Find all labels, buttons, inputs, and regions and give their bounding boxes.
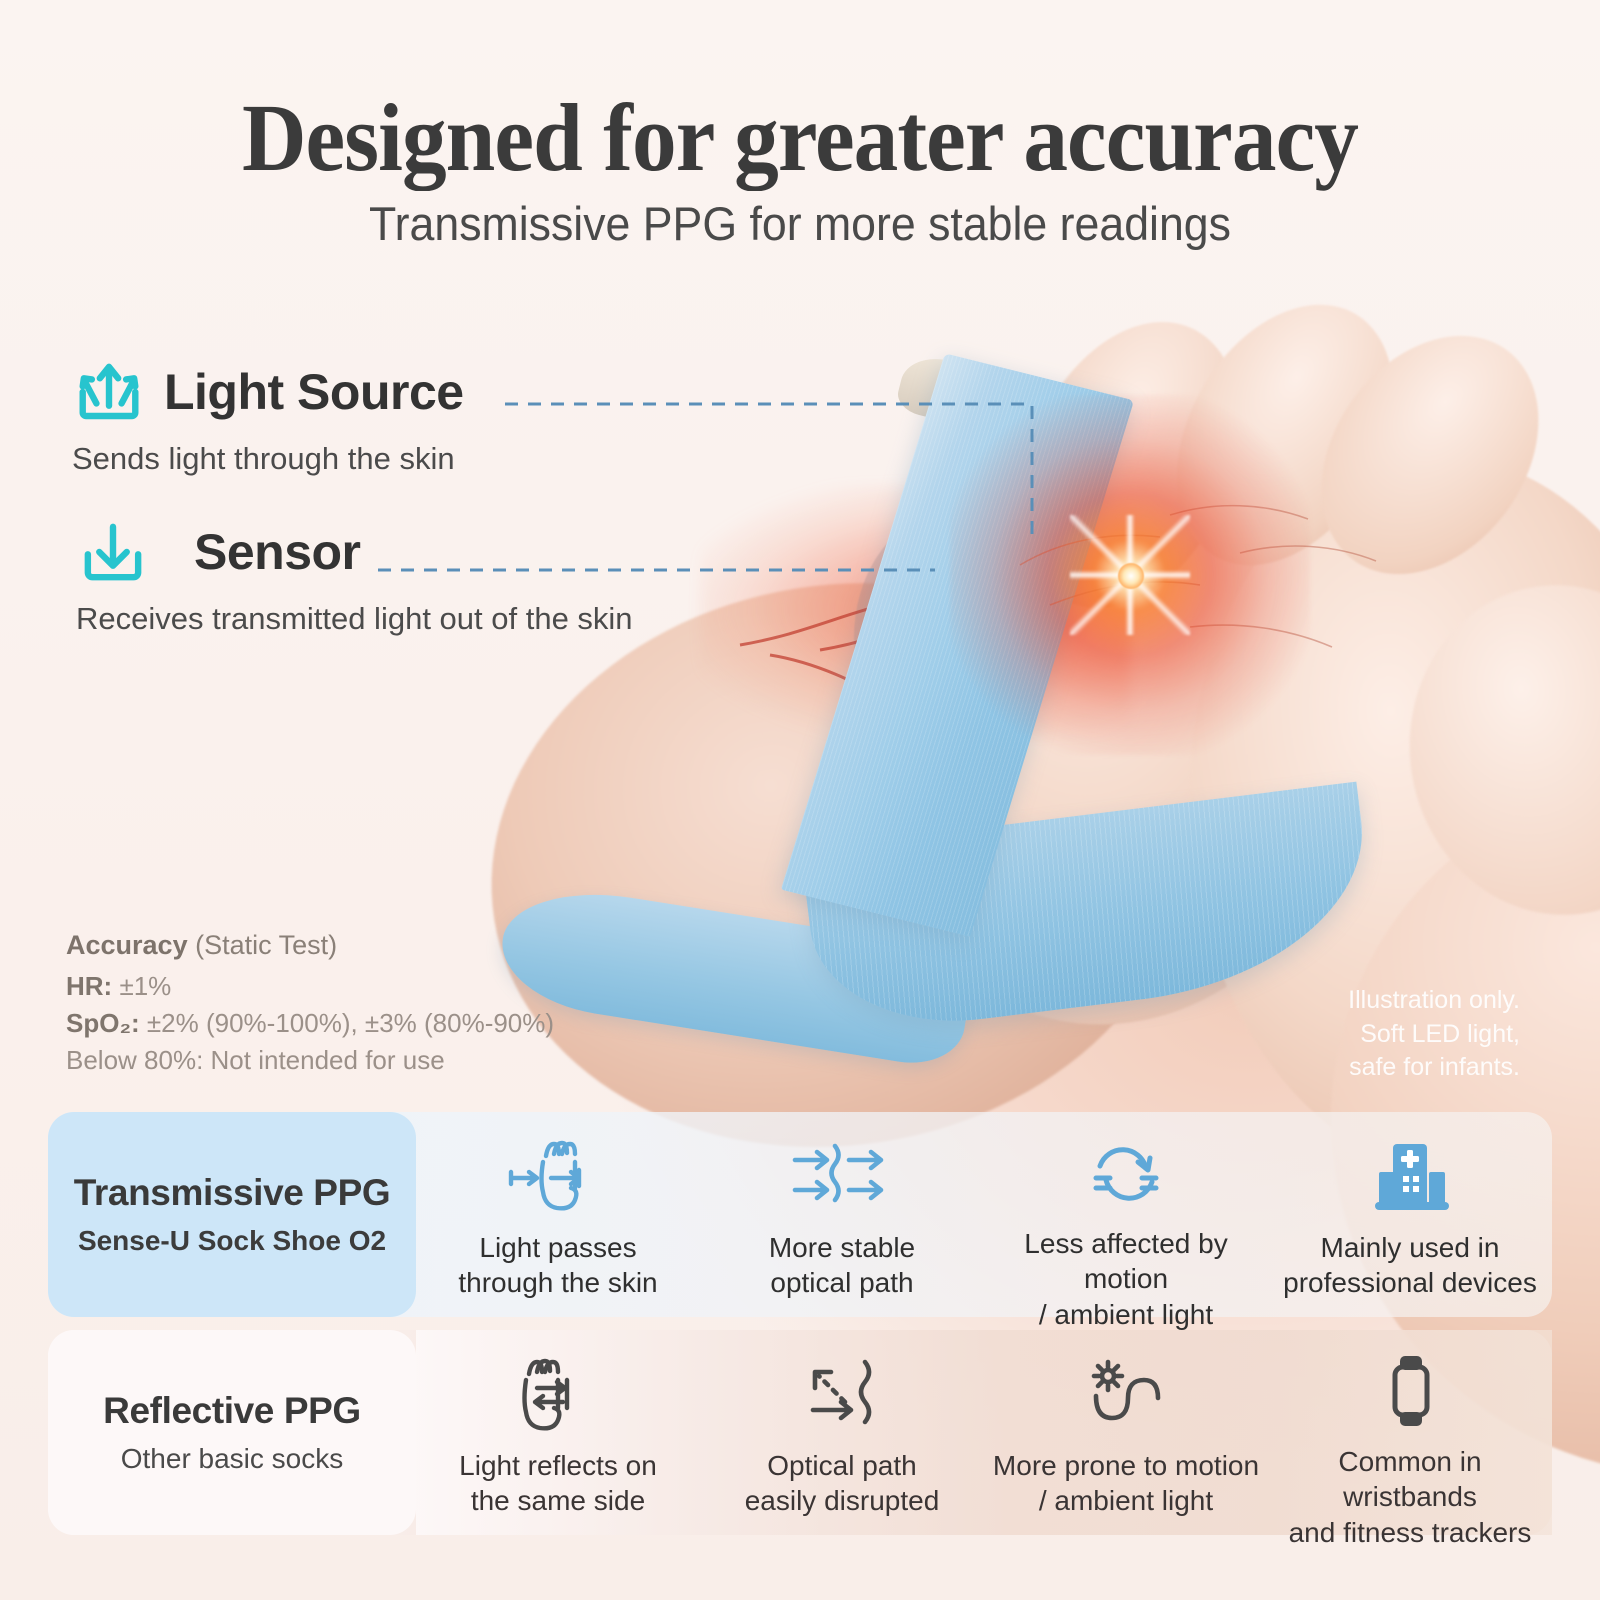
comparison-cell-line1: Less affected by motion	[984, 1226, 1268, 1297]
comparison-cell: More stable optical path	[700, 1112, 984, 1317]
comparison-cells-reflective: Light reflects on the same side	[416, 1330, 1552, 1535]
accuracy-hr-value: ±1%	[112, 971, 171, 1001]
comparison-row-subtitle-transmissive: Sense-U Sock Shoe O2	[78, 1225, 386, 1257]
disrupted-path-icon	[797, 1352, 887, 1436]
comparison-cell-text: Optical path easily disrupted	[745, 1448, 940, 1519]
accuracy-hr-line: HR: ±1%	[66, 968, 554, 1005]
disclaimer-line-2: Soft LED light,	[1348, 1018, 1520, 1052]
comparison-cell-line1: More prone to motion	[993, 1448, 1259, 1483]
comparison-cell-text: Light passes through the skin	[458, 1230, 657, 1301]
accuracy-note: Below 80%: Not intended for use	[66, 1042, 554, 1079]
accuracy-heading-rest: (Static Test)	[188, 930, 338, 960]
comparison-cell-line2: easily disrupted	[745, 1483, 940, 1518]
page-subtitle: Transmissive PPG for more stable reading…	[40, 196, 1560, 251]
accuracy-heading-bold: Accuracy	[66, 930, 188, 960]
comparison-cell-line1: Mainly used in	[1283, 1230, 1537, 1265]
accuracy-spo2-label: SpO₂:	[66, 1008, 140, 1038]
callout-sensor-desc-text: Receives transmitted light out of the sk…	[76, 601, 633, 636]
comparison-row-title-transmissive: Transmissive PPG	[74, 1172, 391, 1214]
sensor-download-icon	[76, 520, 150, 584]
comparison-cell: Optical path easily disrupted	[700, 1330, 984, 1535]
foot-light-through-icon	[499, 1134, 617, 1218]
comparison-cell-line1: Optical path	[745, 1448, 940, 1483]
comparison-cell-line2: professional devices	[1283, 1265, 1537, 1300]
comparison-cell-text: Less affected by motion / ambient light	[984, 1226, 1268, 1332]
page-title: Designed for greater accuracy	[56, 82, 1544, 193]
hospital-building-icon	[1367, 1134, 1453, 1218]
disclaimer-text: Illustration only. Soft LED light, safe …	[1348, 984, 1520, 1085]
comparison-cell-line2: / ambient light	[993, 1483, 1259, 1518]
comparison-cell-line2: and fitness trackers	[1268, 1515, 1552, 1550]
infographic-root: Designed for greater accuracy Transmissi…	[0, 0, 1600, 1600]
comparison-cell-text: More stable optical path	[769, 1230, 915, 1301]
comparison-cells-transmissive: Light passes through the skin	[416, 1112, 1552, 1317]
accuracy-lines: HR: ±1% SpO₂: ±2% (90%-100%), ±3% (80%-9…	[66, 968, 554, 1079]
disclaimer-line-1: Illustration only.	[1348, 984, 1520, 1018]
callout-sensor-label: Sensor	[194, 523, 361, 581]
comparison-cell: Less affected by motion / ambient light	[984, 1112, 1268, 1317]
callout-light-source: Light Source Sends light through the ski…	[72, 360, 464, 481]
comparison-cell-text: Common in wristbands and fitness tracker…	[1268, 1444, 1552, 1550]
comparison-cell-line2: optical path	[769, 1265, 915, 1300]
accuracy-spo2-line: SpO₂: ±2% (90%-100%), ±3% (80%-90%)	[66, 1005, 554, 1042]
callout-sensor: Sensor Receives transmitted light out of…	[76, 520, 633, 641]
comparison-table: Transmissive PPG Sense-U Sock Shoe O2	[48, 1112, 1552, 1542]
comparison-cell-line2: through the skin	[458, 1265, 657, 1300]
comparison-cell-text: More prone to motion / ambient light	[993, 1448, 1259, 1519]
comparison-row-subtitle-reflective: Other basic socks	[121, 1443, 344, 1475]
comparison-cell: Mainly used in professional devices	[1268, 1112, 1552, 1317]
stable-arrows-icon	[787, 1134, 897, 1218]
accuracy-block: Accuracy (Static Test) HR: ±1% SpO₂: ±2%…	[66, 930, 554, 1079]
comparison-row-label-reflective: Reflective PPG Other basic socks	[48, 1330, 416, 1535]
accuracy-spo2-value: ±2% (90%-100%), ±3% (80%-90%)	[140, 1008, 554, 1038]
disclaimer-line-3: safe for infants.	[1348, 1051, 1520, 1085]
comparison-cell-line2: / ambient light	[984, 1297, 1268, 1332]
comparison-cell-text: Light reflects on the same side	[459, 1448, 657, 1519]
light-source-icon	[72, 360, 146, 424]
comparison-cell-line2: the same side	[459, 1483, 657, 1518]
comparison-cell-line1: More stable	[769, 1230, 915, 1265]
comparison-cell: More prone to motion / ambient light	[984, 1330, 1268, 1535]
comparison-cell-text: Mainly used in professional devices	[1283, 1230, 1537, 1301]
refresh-cycle-icon	[1080, 1134, 1172, 1214]
accuracy-hr-label: HR:	[66, 971, 112, 1001]
comparison-cell: Light passes through the skin	[416, 1112, 700, 1317]
comparison-row-title-reflective: Reflective PPG	[103, 1390, 361, 1432]
callout-sensor-desc: Receives transmitted light out of the sk…	[76, 598, 633, 641]
accuracy-heading: Accuracy (Static Test)	[66, 930, 554, 961]
smartwatch-icon	[1380, 1352, 1440, 1432]
comparison-cell-line1: Light passes	[458, 1230, 657, 1265]
callout-light-source-label: Light Source	[164, 363, 464, 421]
led-core	[1118, 563, 1144, 589]
comparison-row-label-transmissive: Transmissive PPG Sense-U Sock Shoe O2	[48, 1112, 416, 1317]
callout-light-source-desc: Sends light through the skin	[72, 438, 464, 481]
comparison-cell-line1: Common in wristbands	[1268, 1444, 1552, 1515]
comparison-cell: Light reflects on the same side	[416, 1330, 700, 1535]
sun-wave-motion-icon	[1078, 1352, 1174, 1436]
foot-light-reflect-icon	[503, 1352, 613, 1436]
comparison-cell-line1: Light reflects on	[459, 1448, 657, 1483]
comparison-cell: Common in wristbands and fitness tracker…	[1268, 1330, 1552, 1535]
